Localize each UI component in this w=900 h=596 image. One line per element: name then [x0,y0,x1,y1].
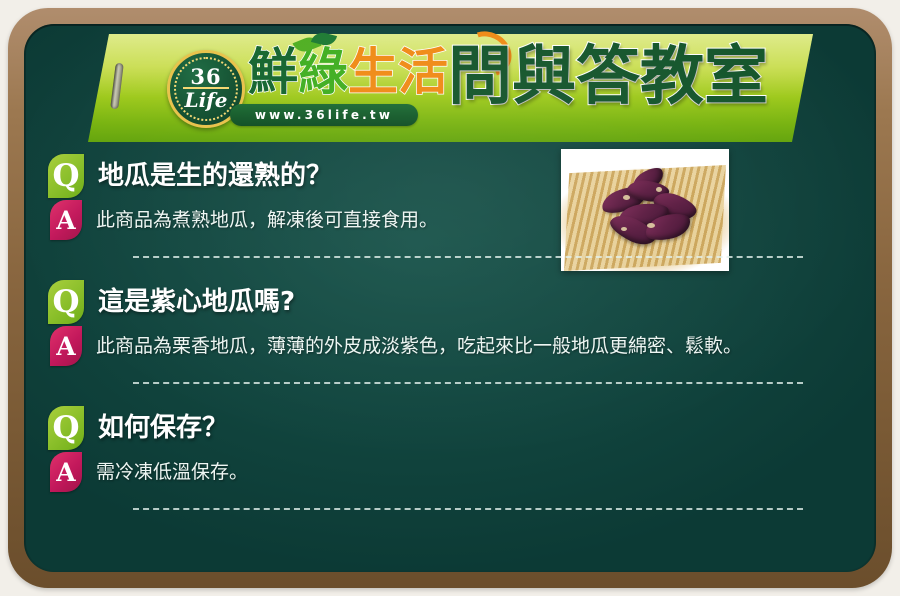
logo-word: Life [185,90,228,111]
qa-item: Q 地瓜是生的還熟的？ A 此商品為煮熟地瓜，解凍後可直接食用。 [48,154,858,258]
answer-badge: A [50,452,82,492]
answer-badge: A [50,326,82,366]
brand-url-pill[interactable]: www.36life.tw [230,104,418,126]
question-badge: Q [48,406,84,450]
question-text: 如何保存？ [98,406,228,450]
question-badge: Q [48,154,84,198]
question-row: Q 這是紫心地瓜嗎? [48,280,858,324]
brand-url-text: www.36life.tw [255,108,393,122]
chalkboard-surface: 36 Life 鮮綠生活 www.36life.tw 問與答教室 [26,26,874,570]
question-badge: Q [48,280,84,324]
answer-row: A 此商品為栗香地瓜，薄薄的外皮成淡紫色，吃起來比一般地瓜更綿密、鬆軟。 [50,326,858,366]
qa-divider [133,508,803,510]
answer-text: 此商品為煮熟地瓜，解凍後可直接食用。 [96,200,438,240]
answer-badge: A [50,200,82,240]
qa-divider [133,256,803,258]
brand-char-4: 活 [398,43,448,101]
brand-wordmark: 鮮綠生活 [248,42,448,104]
qa-item: Q 如何保存？ A 需冷凍低溫保存。 [48,406,858,510]
wooden-frame: 36 Life 鮮綠生活 www.36life.tw 問與答教室 [8,8,892,588]
question-row: Q 如何保存？ [48,406,858,450]
brand-char-1: 鮮 [248,43,298,101]
qa-divider [133,382,803,384]
question-text: 地瓜是生的還熟的？ [98,154,332,198]
page-root: 36 Life 鮮綠生活 www.36life.tw 問與答教室 [0,0,900,596]
logo-number: 36 [190,67,221,86]
qa-list: Q 地瓜是生的還熟的？ A 此商品為煮熟地瓜，解凍後可直接食用。 Q 這是紫心地… [48,154,858,510]
answer-row: A 此商品為煮熟地瓜，解凍後可直接食用。 [50,200,858,240]
answer-row: A 需冷凍低溫保存。 [50,452,858,492]
question-text: 這是紫心地瓜嗎? [98,280,295,324]
answer-text: 此商品為栗香地瓜，薄薄的外皮成淡紫色，吃起來比一般地瓜更綿密、鬆軟。 [96,326,742,366]
answer-text: 需冷凍低溫保存。 [96,452,248,492]
question-row: Q 地瓜是生的還熟的？ [48,154,858,198]
banner-title: 問與答教室 [448,38,768,116]
brand-char-3: 生 [348,43,398,101]
qa-item: Q 這是紫心地瓜嗎? A 此商品為栗香地瓜，薄薄的外皮成淡紫色，吃起來比一般地瓜… [48,280,858,384]
